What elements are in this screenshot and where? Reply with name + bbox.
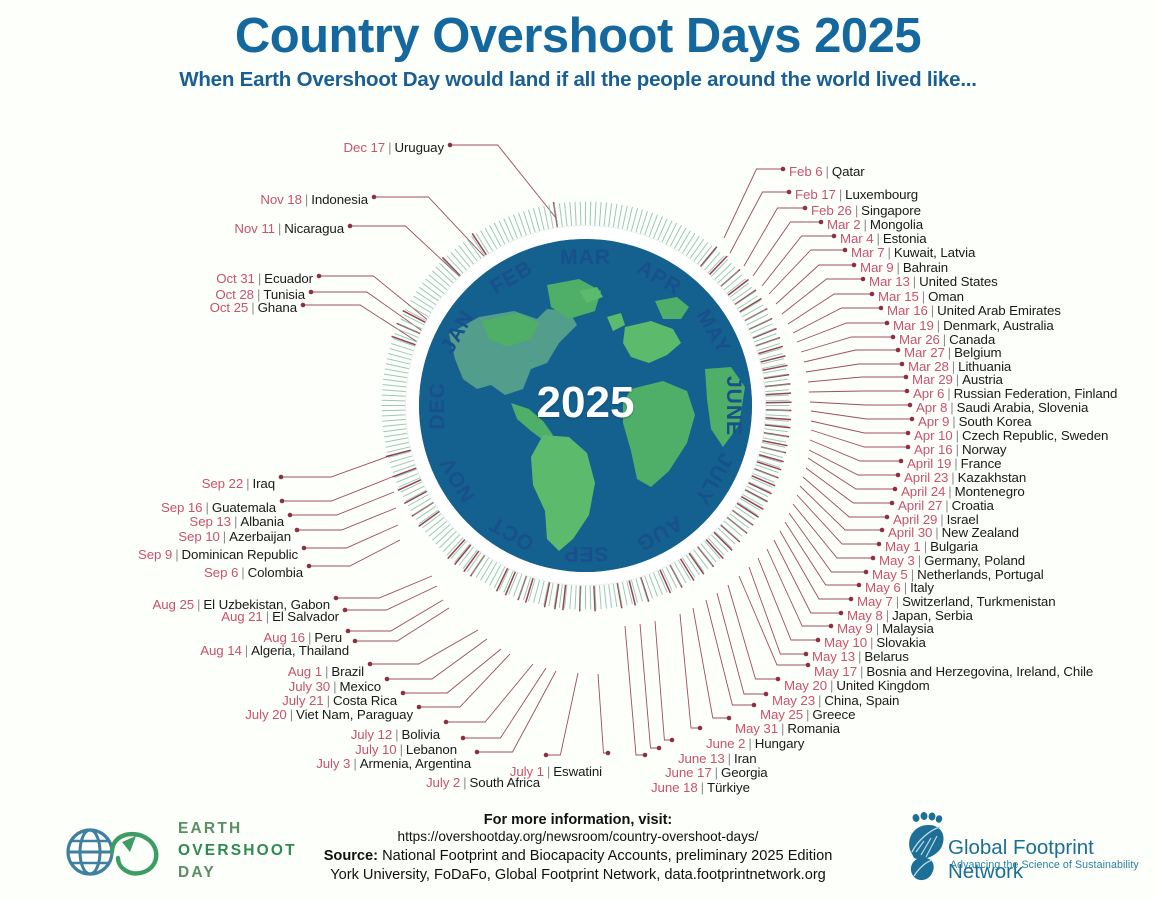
label-date: June 18 xyxy=(651,780,698,795)
label-date: July 3 xyxy=(316,756,350,771)
label-countries: Iraq xyxy=(252,476,275,491)
country-label: May 31|Romania xyxy=(735,722,840,736)
label-separator: | xyxy=(951,456,960,471)
label-separator: | xyxy=(893,594,902,609)
label-countries: Qatar xyxy=(832,164,865,179)
globe-graphic: 2025 JANFEBMARAPRMAYJUNEJULYAUGSEPOCTNOV… xyxy=(378,198,793,613)
gfn-subtitle: Advancing the Science of Sustainability xyxy=(950,859,1139,871)
country-label: July 21|Costa Rica xyxy=(282,694,397,708)
country-label: May 17|Bosnia and Herzegovina, Ireland, … xyxy=(814,665,1093,679)
label-countries: Russian Federation, Finland xyxy=(954,386,1118,401)
country-label: June 13|Iran xyxy=(678,752,757,766)
label-countries: Romania xyxy=(787,721,840,736)
label-separator: | xyxy=(901,580,910,595)
label-countries: Guatemala xyxy=(212,500,276,515)
label-countries: Mexico xyxy=(339,679,381,694)
label-separator: | xyxy=(745,736,754,751)
label-countries: Austria xyxy=(962,372,1003,387)
label-date: May 17 xyxy=(814,664,857,679)
label-date: Apr 6 xyxy=(913,386,944,401)
label-countries: Saudi Arabia, Slovenia xyxy=(957,400,1089,415)
label-countries: Ghana xyxy=(258,300,297,315)
source-label: Source: xyxy=(324,848,378,864)
label-separator: | xyxy=(953,428,962,443)
label-separator: | xyxy=(248,300,257,315)
label-countries: Lebanon xyxy=(406,742,457,757)
country-label: Mar 2|Mongolia xyxy=(827,218,923,232)
label-separator: | xyxy=(867,635,876,650)
label-countries: El Salvador xyxy=(272,609,339,624)
label-separator: | xyxy=(945,345,954,360)
country-label: Sep 16|Guatemala xyxy=(161,501,276,515)
infographic-canvas: Country Overshoot Days 2025 When Earth O… xyxy=(0,0,1156,900)
country-label: May 1|Bulgaria xyxy=(885,540,978,554)
label-separator: | xyxy=(823,164,832,179)
label-date: May 10 xyxy=(824,635,867,650)
label-countries: France xyxy=(961,456,1002,471)
label-date: Mar 16 xyxy=(887,303,928,318)
label-countries: South Korea xyxy=(959,414,1032,429)
label-separator: | xyxy=(949,414,958,429)
global-footprint-network-logo: Global Footprint Network Advancing the S… xyxy=(900,812,1140,892)
label-countries: Uruguay xyxy=(394,140,444,155)
label-countries: Türkiye xyxy=(707,780,750,795)
country-label: May 9|Malaysia xyxy=(837,622,934,636)
country-label: Aug 1|Brazil xyxy=(288,665,364,679)
label-countries: Georgia xyxy=(721,765,768,780)
month-label-mar: MAR xyxy=(560,246,611,270)
label-date: Nov 11 xyxy=(234,221,275,236)
country-label: Oct 25|Ghana xyxy=(210,301,297,315)
country-label: May 13|Belarus xyxy=(812,650,909,664)
label-separator: | xyxy=(243,476,252,491)
label-countries: Denmark, Australia xyxy=(943,318,1054,333)
label-separator: | xyxy=(220,529,229,544)
label-countries: Belarus xyxy=(864,649,908,664)
label-separator: | xyxy=(330,679,339,694)
label-date: Mar 4 xyxy=(840,231,874,246)
label-separator: | xyxy=(874,231,883,246)
country-label: May 7|Switzerland, Turkmenistan xyxy=(857,595,1056,609)
label-separator: | xyxy=(275,221,284,236)
label-date: July 10 xyxy=(355,742,396,757)
label-countries: Eswatini xyxy=(553,764,602,779)
label-countries: Dominican Republic xyxy=(182,547,298,562)
label-countries: Azerbaijan xyxy=(229,529,291,544)
label-countries: Singapore xyxy=(861,203,921,218)
label-countries: Czech Republic, Sweden xyxy=(962,428,1108,443)
label-countries: Switzerland, Turkmenistan xyxy=(902,594,1055,609)
label-date: May 9 xyxy=(837,621,873,636)
country-label: Apr 16|Norway xyxy=(914,443,1006,457)
label-separator: | xyxy=(712,765,721,780)
label-countries: Albania xyxy=(240,514,284,529)
label-countries: China, Spain xyxy=(824,693,899,708)
label-separator: | xyxy=(919,289,928,304)
country-label: Mar 27|Belgium xyxy=(904,346,1002,360)
country-label: Apr 10|Czech Republic, Sweden xyxy=(914,429,1108,443)
country-label: Aug 14|Algeria, Thailand xyxy=(200,644,349,658)
label-separator: | xyxy=(857,664,866,679)
label-separator: | xyxy=(324,693,333,708)
label-countries: Nicaragua xyxy=(284,221,344,236)
country-label: April 19|France xyxy=(907,457,1001,471)
label-countries: Montenegro xyxy=(955,484,1025,499)
country-label: Nov 11|Nicaragua xyxy=(234,222,344,236)
label-separator: | xyxy=(202,500,211,515)
label-countries: United Kingdom xyxy=(836,678,929,693)
label-date: Mar 9 xyxy=(860,260,894,275)
label-separator: | xyxy=(948,470,957,485)
label-countries: Bulgaria xyxy=(930,539,978,554)
label-date: Sep 13 xyxy=(189,514,231,529)
label-date: May 6 xyxy=(865,580,901,595)
country-label: July 20|Viet Nam, Paraguay xyxy=(245,708,413,722)
country-label: June 17|Georgia xyxy=(665,766,768,780)
label-separator: | xyxy=(263,609,272,624)
country-label: Mar 13|United States xyxy=(869,275,998,289)
country-label: Feb 17|Luxembourg xyxy=(795,188,918,202)
label-date: May 7 xyxy=(857,594,893,609)
label-countries: Kazakhstan xyxy=(958,470,1026,485)
label-separator: | xyxy=(255,271,264,286)
label-separator: | xyxy=(350,756,359,771)
country-label: Oct 31|Ecuador xyxy=(216,272,313,286)
label-countries: Hungary xyxy=(755,736,805,751)
country-label: Mar 19|Denmark, Australia xyxy=(893,319,1054,333)
label-separator: | xyxy=(910,274,919,289)
label-countries: Algeria, Thailand xyxy=(251,643,349,658)
label-countries: New Zealand xyxy=(942,525,1019,540)
label-date: April 30 xyxy=(888,525,932,540)
country-label: Dec 17|Uruguay xyxy=(344,141,444,155)
label-separator: | xyxy=(827,678,836,693)
label-countries: Germany, Poland xyxy=(924,553,1025,568)
label-date: Sep 9 xyxy=(138,547,172,562)
label-date: Dec 17 xyxy=(344,140,386,155)
label-date: Apr 16 xyxy=(914,442,953,457)
country-label: July 10|Lebanon xyxy=(355,743,457,757)
label-date: July 30 xyxy=(289,679,330,694)
label-date: Mar 19 xyxy=(893,318,934,333)
country-label: May 25|Greece xyxy=(760,708,855,722)
label-date: Aug 25 xyxy=(152,597,194,612)
eod-wordmark: EARTH OVERSHOOT DAY xyxy=(178,818,297,884)
label-date: July 20 xyxy=(245,707,286,722)
label-separator: | xyxy=(934,318,943,333)
label-countries: Greece xyxy=(812,707,855,722)
label-separator: | xyxy=(894,260,903,275)
country-label: Aug 21|El Salvador xyxy=(221,610,339,624)
label-date: May 23 xyxy=(772,693,815,708)
label-date: July 21 xyxy=(282,693,323,708)
label-countries: Iran xyxy=(734,751,757,766)
label-date: July 1 xyxy=(510,764,544,779)
label-separator: | xyxy=(397,742,406,757)
label-date: Mar 29 xyxy=(912,372,953,387)
country-label: Feb 26|Singapore xyxy=(811,204,921,218)
label-date: Apr 9 xyxy=(918,414,949,429)
label-separator: | xyxy=(852,203,861,218)
label-separator: | xyxy=(698,780,707,795)
label-countries: Kuwait, Latvia xyxy=(894,245,975,260)
country-label: July 3|Armenia, Argentina xyxy=(316,757,471,771)
country-label: June 18|Türkiye xyxy=(651,781,750,795)
footprint-leaf-icon xyxy=(900,812,952,890)
label-separator: | xyxy=(855,649,864,664)
label-date: Aug 1 xyxy=(288,664,322,679)
label-separator: | xyxy=(287,707,296,722)
label-date: Nov 18 xyxy=(260,192,302,207)
country-label: Sep 6|Colombia xyxy=(204,566,303,580)
label-date: June 2 xyxy=(706,736,745,751)
label-separator: | xyxy=(322,664,331,679)
country-label: Sep 10|Azerbaijan xyxy=(178,530,291,544)
label-date: April 27 xyxy=(898,498,942,513)
country-label: May 10|Slovakia xyxy=(824,636,926,650)
label-separator: | xyxy=(947,400,956,415)
country-label: July 1|Eswatini xyxy=(510,765,602,779)
label-countries: Italy xyxy=(910,580,934,595)
country-label: Feb 6|Qatar xyxy=(789,165,865,179)
label-date: June 13 xyxy=(678,751,725,766)
label-separator: | xyxy=(725,751,734,766)
country-label: Mar 4|Estonia xyxy=(840,232,927,246)
label-date: Mar 27 xyxy=(904,345,945,360)
country-label: May 23|China, Spain xyxy=(772,694,899,708)
label-countries: Brazil xyxy=(331,664,364,679)
country-label: Mar 9|Bahrain xyxy=(860,261,948,275)
label-date: Sep 6 xyxy=(204,565,238,580)
country-label: May 6|Italy xyxy=(865,581,934,595)
label-countries: Bahrain xyxy=(903,260,948,275)
label-separator: | xyxy=(194,597,203,612)
country-label: May 3|Germany, Poland xyxy=(879,554,1025,568)
country-label: Mar 7|Kuwait, Latvia xyxy=(851,246,975,260)
label-date: Mar 7 xyxy=(851,245,885,260)
label-separator: | xyxy=(836,187,845,202)
label-countries: Mongolia xyxy=(870,217,923,232)
country-label: June 2|Hungary xyxy=(706,737,804,751)
month-label-sep: SEP xyxy=(563,541,608,565)
country-label: April 30|New Zealand xyxy=(888,526,1019,540)
label-date: May 25 xyxy=(760,707,803,722)
country-label: April 23|Kazakhstan xyxy=(904,471,1026,485)
label-separator: | xyxy=(803,707,812,722)
label-countries: Viet Nam, Paraguay xyxy=(296,707,413,722)
label-date: April 24 xyxy=(901,484,945,499)
label-countries: Croatia xyxy=(952,498,994,513)
label-separator: | xyxy=(242,643,251,658)
country-label: Sep 22|Iraq xyxy=(202,477,275,491)
label-date: July 12 xyxy=(351,727,392,742)
label-date: April 19 xyxy=(907,456,951,471)
label-countries: Bosnia and Herzegovina, Ireland, Chile xyxy=(866,664,1093,679)
country-label: Mar 15|Oman xyxy=(878,290,964,304)
label-separator: | xyxy=(915,553,924,568)
label-countries: Belgium xyxy=(954,345,1001,360)
label-countries: Estonia xyxy=(883,231,927,246)
label-date: Aug 14 xyxy=(200,643,242,658)
label-date: May 31 xyxy=(735,721,778,736)
label-countries: United States xyxy=(919,274,998,289)
label-date: Mar 13 xyxy=(869,274,910,289)
country-label: Sep 9|Dominican Republic xyxy=(138,548,298,562)
label-countries: Costa Rica xyxy=(333,693,397,708)
label-separator: | xyxy=(460,775,469,790)
eod-line-2: OVERSHOOT xyxy=(178,840,297,862)
country-label: Apr 9|South Korea xyxy=(918,415,1031,429)
label-countries: Slovakia xyxy=(876,635,925,650)
label-countries: Bolivia xyxy=(402,727,440,742)
label-separator: | xyxy=(861,217,870,232)
label-separator: | xyxy=(873,621,882,636)
label-countries: Malaysia xyxy=(882,621,934,636)
label-countries: Netherlands, Portugal xyxy=(917,567,1044,582)
country-label: April 27|Croatia xyxy=(898,499,994,513)
label-date: May 3 xyxy=(879,553,915,568)
label-date: May 1 xyxy=(885,539,921,554)
country-label: Nov 18|Indonesia xyxy=(260,193,368,207)
label-date: Sep 16 xyxy=(161,500,203,515)
earth-overshoot-day-logo: EARTH OVERSHOOT DAY xyxy=(60,816,275,888)
country-label: July 30|Mexico xyxy=(289,680,381,694)
label-separator: | xyxy=(238,565,247,580)
label-date: Sep 22 xyxy=(202,476,244,491)
label-separator: | xyxy=(932,525,941,540)
label-separator: | xyxy=(953,442,962,457)
label-date: June 17 xyxy=(665,765,712,780)
label-countries: Armenia, Argentina xyxy=(360,756,471,771)
label-countries: Luxembourg xyxy=(845,187,918,202)
label-date: May 20 xyxy=(784,678,827,693)
label-separator: | xyxy=(942,498,951,513)
country-label: Mar 29|Austria xyxy=(912,373,1003,387)
label-date: Feb 26 xyxy=(811,203,852,218)
label-date: Sep 10 xyxy=(178,529,220,544)
label-date: Aug 21 xyxy=(221,609,263,624)
label-separator: | xyxy=(945,484,954,499)
label-countries: Oman xyxy=(928,289,964,304)
label-separator: | xyxy=(544,764,553,779)
source-text-1: National Footprint and Biocapacity Accou… xyxy=(378,848,832,864)
eod-line-3: DAY xyxy=(178,862,297,884)
label-date: Oct 31 xyxy=(216,271,255,286)
label-date: Feb 17 xyxy=(795,187,836,202)
label-date: Apr 8 xyxy=(916,400,947,415)
label-date: Feb 6 xyxy=(789,164,823,179)
label-date: Oct 25 xyxy=(210,300,249,315)
country-label: Apr 6|Russian Federation, Finland xyxy=(913,387,1117,401)
label-countries: United Arab Emirates xyxy=(937,303,1061,318)
country-label: July 12|Bolivia xyxy=(351,728,440,742)
label-date: Mar 15 xyxy=(878,289,919,304)
globe-loop-icon xyxy=(60,816,178,886)
label-date: Apr 10 xyxy=(914,428,953,443)
country-label: April 24|Montenegro xyxy=(901,485,1025,499)
label-separator: | xyxy=(815,693,824,708)
label-separator: | xyxy=(392,727,401,742)
label-separator: | xyxy=(778,721,787,736)
label-date: May 13 xyxy=(812,649,855,664)
country-label: Sep 13|Albania xyxy=(189,515,284,529)
label-separator: | xyxy=(885,245,894,260)
month-label-june: JUNE xyxy=(721,375,745,435)
label-date: Mar 2 xyxy=(827,217,861,232)
label-countries: Ecuador xyxy=(264,271,313,286)
label-countries: Indonesia xyxy=(311,192,368,207)
label-countries: Norway xyxy=(962,442,1006,457)
label-separator: | xyxy=(231,514,240,529)
eod-line-1: EARTH xyxy=(178,818,297,840)
country-label: Apr 8|Saudi Arabia, Slovenia xyxy=(916,401,1088,415)
country-label: Mar 16|United Arab Emirates xyxy=(887,304,1061,318)
label-separator: | xyxy=(921,539,930,554)
label-separator: | xyxy=(385,140,394,155)
label-countries: Colombia xyxy=(248,565,303,580)
label-separator: | xyxy=(172,547,181,562)
label-separator: | xyxy=(944,386,953,401)
month-label-dec: DEC xyxy=(426,382,450,429)
label-separator: | xyxy=(302,192,311,207)
label-date: April 23 xyxy=(904,470,948,485)
label-date: July 2 xyxy=(426,775,460,790)
label-separator: | xyxy=(928,303,937,318)
label-separator: | xyxy=(953,372,962,387)
country-label: May 20|United Kingdom xyxy=(784,679,930,693)
